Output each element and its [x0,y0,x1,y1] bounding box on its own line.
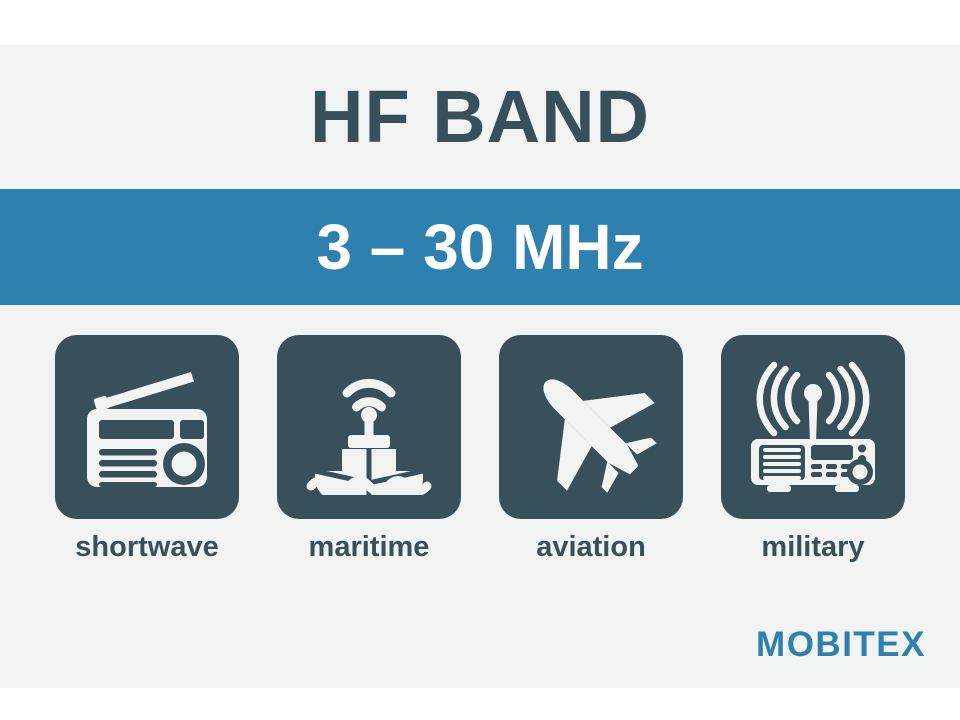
category-label-aviation: aviation [536,533,646,562]
category-item-aviation[interactable]: aviation [499,335,683,585]
category-item-military[interactable]: military [721,335,905,585]
title-area: HF BAND [0,45,960,189]
shortwave-tile[interactable] [55,335,239,519]
knob-center [172,452,197,477]
category-label-military: military [761,533,864,562]
frequency-band: 3 – 30 MHz [0,189,960,305]
shortwave-radio-icon [79,359,215,495]
military-tile[interactable] [721,335,905,519]
frequency-range-text: 3 – 30 MHz [316,215,643,279]
airplane-icon [523,359,659,495]
aviation-tile[interactable] [499,335,683,519]
page-title: HF BAND [310,80,650,154]
category-label-shortwave: shortwave [75,533,218,562]
military-transceiver-icon [745,359,881,495]
maritime-tile[interactable] [277,335,461,519]
brand-logo: MOBITEX [756,627,926,662]
category-label-maritime: maritime [309,533,430,562]
category-item-maritime[interactable]: maritime [277,335,461,585]
category-item-shortwave[interactable]: shortwave [55,335,239,585]
ship-antenna-icon [301,359,437,495]
water-wave-line [311,481,427,492]
category-icon-row: shortwave [0,335,960,585]
infographic-poster: HF BAND 3 – 30 MHz [0,45,960,688]
